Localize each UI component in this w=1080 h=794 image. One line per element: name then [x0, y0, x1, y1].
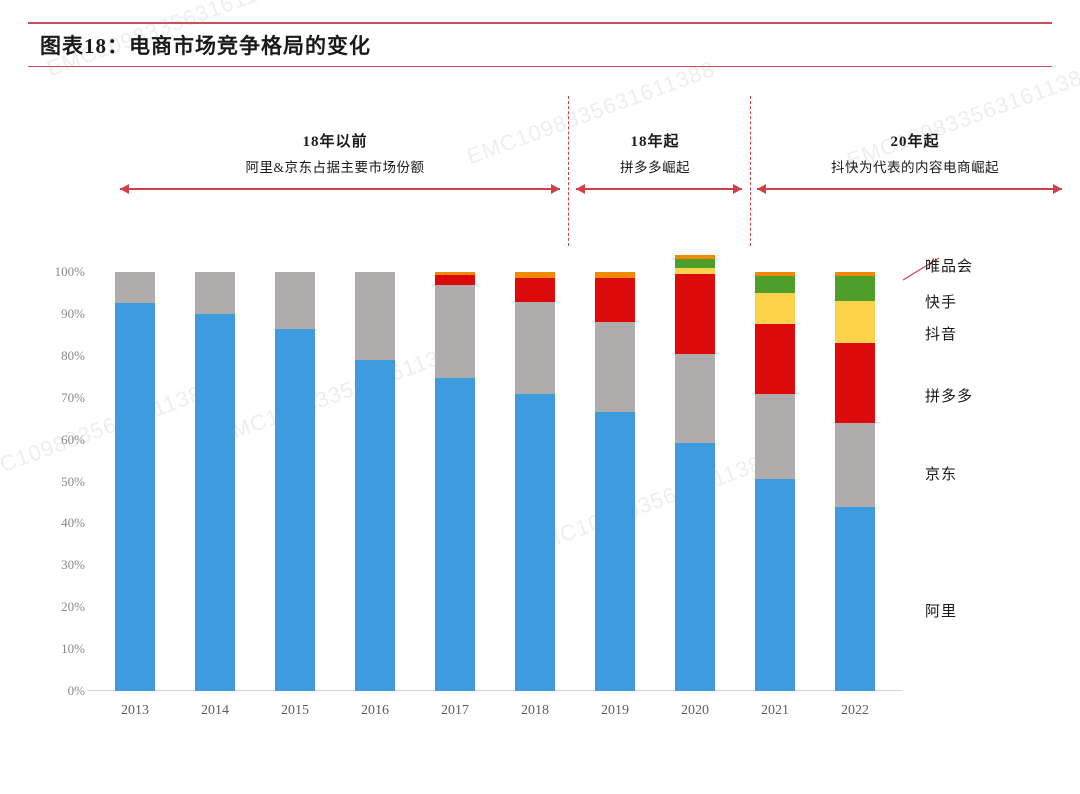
phase-annotation-2: 18年起 拼多多崛起	[570, 130, 740, 176]
bar-segment[interactable]	[835, 276, 875, 301]
bar-segment[interactable]	[595, 322, 635, 412]
legend-item-5: 阿里	[925, 600, 957, 621]
phase-arrow-2	[576, 183, 742, 195]
legend-item-0: 唯品会	[925, 255, 973, 276]
phase-subtitle: 拼多多崛起	[570, 156, 740, 176]
arrow-line	[757, 188, 1062, 190]
y-axis-tick-label: 30%	[61, 557, 85, 573]
bar-segment[interactable]	[275, 272, 315, 329]
y-axis-tick-label: 100%	[55, 264, 85, 280]
arrow-line	[120, 188, 560, 190]
legend-item-1: 快手	[925, 291, 957, 312]
bar-segment[interactable]	[755, 276, 795, 293]
bar-segment[interactable]	[755, 324, 795, 393]
stacked-bar[interactable]	[115, 272, 155, 691]
legend-item-2: 抖音	[925, 323, 957, 344]
bar-column[interactable]: 2014	[175, 272, 255, 691]
stacked-bar-group: 2013201420152016201720182019202020212022	[95, 272, 895, 691]
bar-segment[interactable]	[435, 285, 475, 377]
stacked-bar[interactable]	[835, 272, 875, 691]
bar-segment[interactable]	[355, 360, 395, 691]
legend-item-3: 拼多多	[925, 385, 973, 406]
bar-segment[interactable]	[755, 394, 795, 480]
bar-segment[interactable]	[835, 301, 875, 343]
stacked-bar[interactable]	[515, 272, 555, 691]
bar-column[interactable]: 2016	[335, 272, 415, 691]
arrow-head-right-icon	[1053, 184, 1062, 194]
bar-column[interactable]: 2015	[255, 272, 335, 691]
bar-segment[interactable]	[115, 272, 155, 303]
bar-column[interactable]: 2017	[415, 272, 495, 691]
bar-segment[interactable]	[195, 314, 235, 691]
bar-segment[interactable]	[675, 443, 715, 691]
y-axis-tick-label: 70%	[61, 390, 85, 406]
bar-segment[interactable]	[115, 303, 155, 691]
y-axis-tick-label: 60%	[61, 432, 85, 448]
y-axis-tick-label: 40%	[61, 515, 85, 531]
bar-segment[interactable]	[675, 274, 715, 354]
stacked-bar[interactable]	[595, 272, 635, 691]
phase-divider-1	[568, 96, 569, 246]
stacked-bar[interactable]	[355, 272, 395, 691]
chart-plot-area: 0%10%20%30%40%50%60%70%80%90%100% 201320…	[95, 272, 895, 691]
stacked-bar[interactable]	[195, 272, 235, 691]
phase-divider-2	[750, 96, 751, 246]
x-axis-tick-label: 2017	[415, 703, 495, 719]
title-top-rule	[28, 22, 1052, 24]
bar-column[interactable]: 2020	[655, 272, 735, 691]
phase-title: 20年起	[755, 130, 1075, 151]
arrow-head-left-icon	[576, 184, 585, 194]
bar-segment[interactable]	[515, 394, 555, 691]
phase-subtitle: 阿里&京东占据主要市场份额	[115, 156, 555, 176]
bar-segment[interactable]	[515, 278, 555, 302]
bar-segment[interactable]	[515, 302, 555, 394]
x-axis-tick-label: 2013	[95, 703, 175, 719]
phase-arrow-3	[757, 183, 1062, 195]
stacked-bar[interactable]	[675, 255, 715, 691]
arrow-head-right-icon	[551, 184, 560, 194]
x-axis-tick-label: 2014	[175, 703, 255, 719]
bar-column[interactable]: 2019	[575, 272, 655, 691]
bar-segment[interactable]	[195, 272, 235, 314]
bar-column[interactable]: 2013	[95, 272, 175, 691]
phase-arrow-1	[120, 183, 560, 195]
phase-annotation-3: 20年起 抖快为代表的内容电商崛起	[755, 130, 1075, 176]
x-axis-tick-label: 2021	[735, 703, 815, 719]
legend-item-4: 京东	[925, 463, 957, 484]
y-axis-tick-label: 80%	[61, 348, 85, 364]
stacked-bar[interactable]	[275, 272, 315, 691]
page-title: 图表18：电商市场竞争格局的变化	[40, 30, 371, 60]
arrow-line	[576, 188, 742, 190]
bar-column[interactable]: 2021	[735, 272, 815, 691]
bar-column[interactable]: 2018	[495, 272, 575, 691]
y-axis-tick-label: 20%	[61, 599, 85, 615]
bar-segment[interactable]	[755, 293, 795, 324]
y-axis-tick-label: 10%	[61, 641, 85, 657]
bar-segment[interactable]	[675, 354, 715, 443]
x-axis-tick-label: 2018	[495, 703, 575, 719]
y-axis-tick-label: 0%	[68, 683, 85, 699]
x-axis-tick-label: 2015	[255, 703, 335, 719]
arrow-head-left-icon	[120, 184, 129, 194]
bar-segment[interactable]	[435, 275, 475, 285]
x-axis-tick-label: 2022	[815, 703, 895, 719]
arrow-head-right-icon	[733, 184, 742, 194]
phase-title: 18年起	[570, 130, 740, 151]
chart-page: EMC1098335631611388 EMC1098335631611388 …	[0, 0, 1080, 794]
x-axis-tick-label: 2016	[335, 703, 415, 719]
bar-segment[interactable]	[355, 272, 395, 360]
bar-column[interactable]: 2022	[815, 272, 895, 691]
bar-segment[interactable]	[835, 423, 875, 507]
bar-segment[interactable]	[595, 412, 635, 691]
bar-segment[interactable]	[835, 507, 875, 691]
bar-segment[interactable]	[755, 479, 795, 691]
x-axis-tick-label: 2019	[575, 703, 655, 719]
bar-segment[interactable]	[675, 259, 715, 267]
bar-segment[interactable]	[595, 278, 635, 322]
phase-subtitle: 抖快为代表的内容电商崛起	[755, 156, 1075, 176]
phase-title: 18年以前	[115, 130, 555, 151]
x-axis-tick-label: 2020	[655, 703, 735, 719]
title-bottom-rule	[28, 66, 1052, 67]
y-axis-tick-label: 90%	[61, 306, 85, 322]
phase-annotation-1: 18年以前 阿里&京东占据主要市场份额	[115, 130, 555, 176]
stacked-bar[interactable]	[755, 272, 795, 691]
bar-segment[interactable]	[835, 343, 875, 423]
bar-segment[interactable]	[435, 378, 475, 691]
y-axis-tick-label: 50%	[61, 474, 85, 490]
stacked-bar[interactable]	[435, 272, 475, 691]
arrow-head-left-icon	[757, 184, 766, 194]
bar-segment[interactable]	[275, 329, 315, 691]
